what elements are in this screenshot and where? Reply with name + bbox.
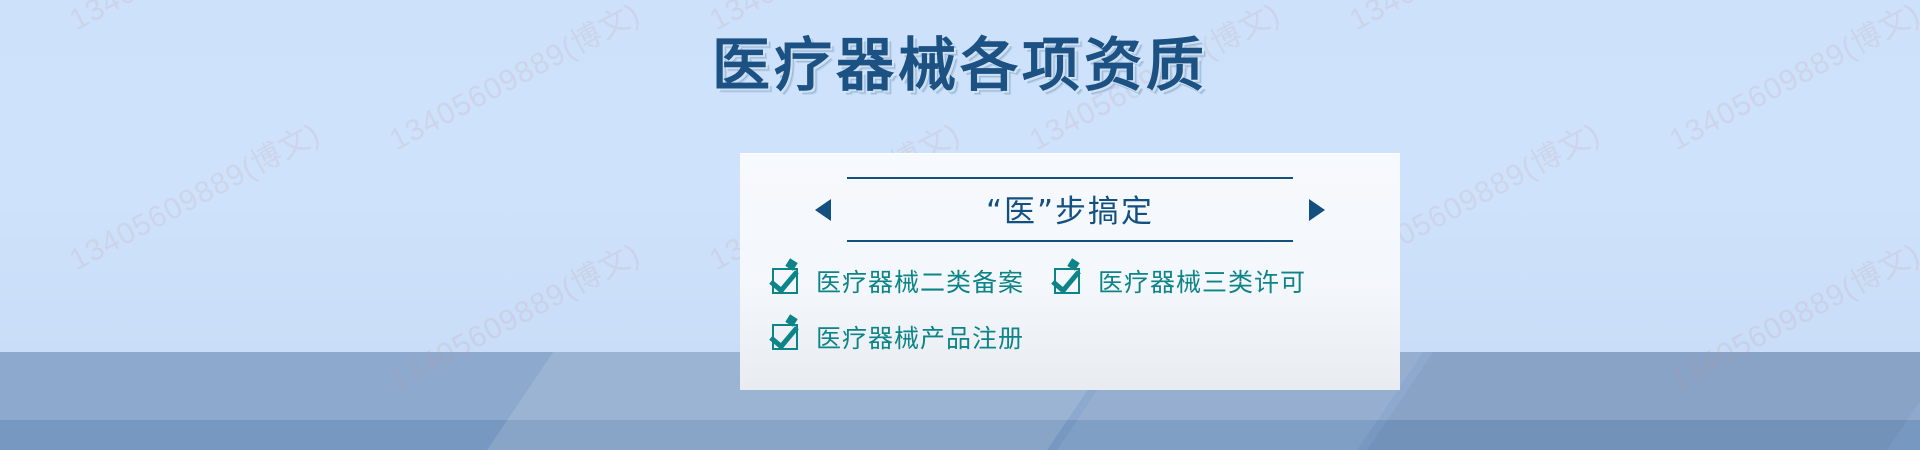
checked-checkbox-icon	[772, 324, 798, 350]
list-item-label: 医疗器械二类备案	[816, 263, 1024, 299]
banner-title-wrap: 医疗器械各项资质	[0, 34, 1920, 98]
card-header-rule: “医”步搞定	[847, 177, 1293, 242]
list-item[interactable]: 医疗器械二类备案	[772, 263, 1054, 299]
checklist-row: 医疗器械产品注册	[772, 319, 1372, 355]
list-item[interactable]: 医疗器械三类许可	[1054, 263, 1306, 299]
checklist-row: 医疗器械二类备案 医疗器械三类许可	[772, 263, 1372, 299]
banner-root: 13405609889(博文)13405609889(博文)1340560988…	[0, 0, 1920, 450]
checklist: 医疗器械二类备案 医疗器械三类许可 医疗器械产品注册	[772, 263, 1372, 375]
card-header: “医”步搞定	[815, 177, 1325, 242]
list-item[interactable]: 医疗器械产品注册	[772, 319, 1054, 355]
list-item-label: 医疗器械产品注册	[816, 319, 1024, 355]
checked-checkbox-icon	[772, 268, 798, 294]
arrow-left-icon	[815, 199, 831, 221]
page-title: 医疗器械各项资质	[712, 34, 1208, 98]
card-header-title: “医”步搞定	[986, 194, 1154, 230]
checked-checkbox-icon	[1054, 268, 1080, 294]
qualification-card: “医”步搞定 医疗器械二类备案 医疗器械三类许可 医疗器械产品注册	[740, 153, 1400, 390]
arrow-right-icon	[1309, 199, 1325, 221]
list-item-label: 医疗器械三类许可	[1098, 263, 1306, 299]
